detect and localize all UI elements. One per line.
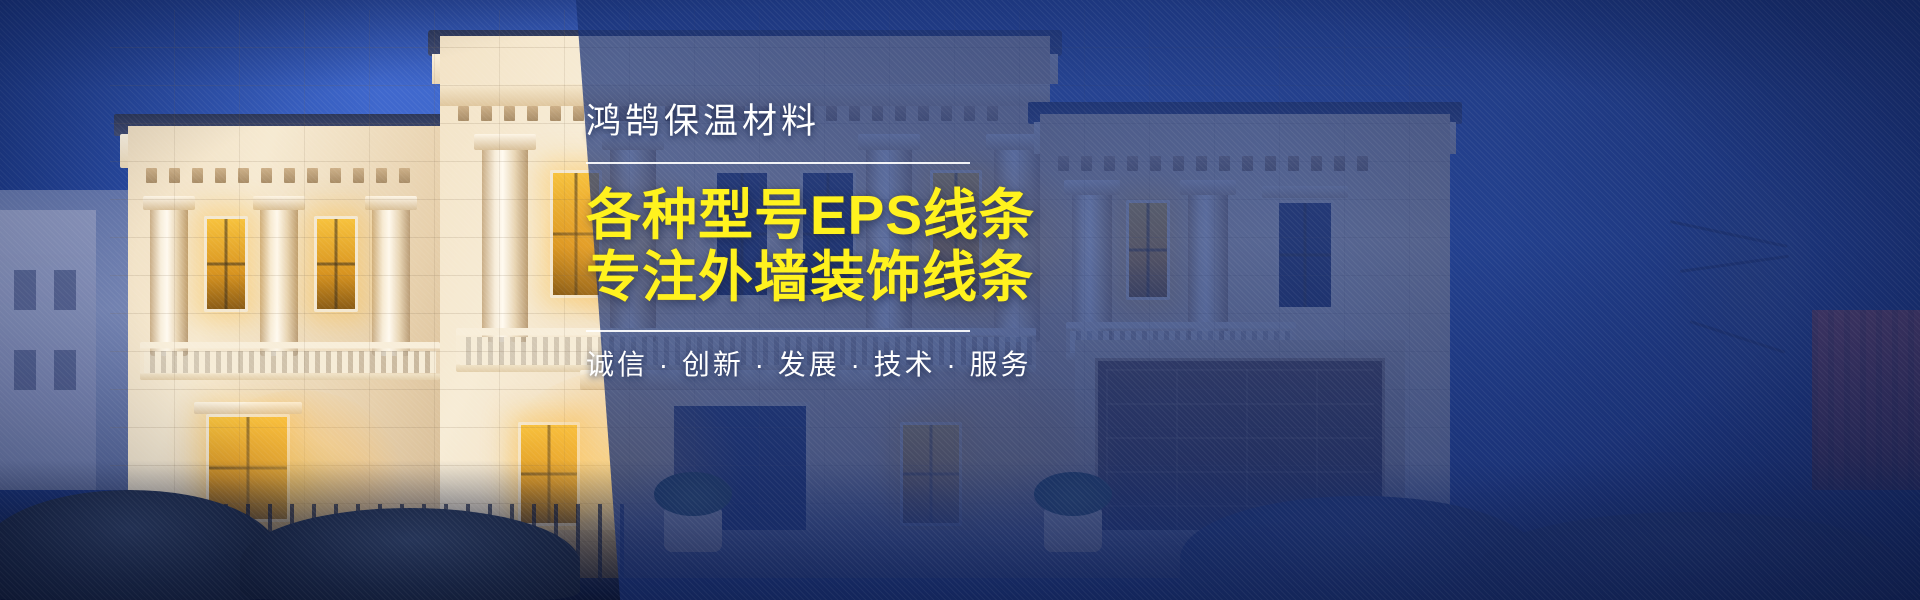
left-wing-column: [260, 206, 298, 356]
window-mullion: [317, 219, 355, 309]
distant-window: [54, 350, 76, 390]
distant-window: [14, 270, 36, 310]
tagline: 诚信 · 创新 · 发展 · 技术 · 服务: [586, 350, 1106, 381]
centre-column: [482, 146, 528, 342]
distant-building-secondary: [0, 210, 96, 490]
banner-copy: 鸿鹄保温材料 各种型号EPS线条 专注外墙装饰线条 诚信 · 创新 · 发展 ·…: [586, 104, 1106, 381]
brand-name: 鸿鹄保温材料: [586, 104, 1106, 139]
right-wing-column-capital: [1180, 180, 1236, 195]
left-wing-column: [372, 206, 410, 356]
left-wing-dentils: [146, 168, 410, 183]
left-wing-column-capital: [143, 196, 195, 210]
left-wing-window-lit: [314, 216, 358, 312]
promotional-banner: 鸿鹄保温材料 各种型号EPS线条 专注外墙装饰线条 诚信 · 创新 · 发展 ·…: [0, 0, 1920, 600]
distant-window: [14, 350, 36, 390]
divider-bottom: [586, 330, 970, 332]
tree-silhouette: [1660, 180, 1810, 430]
distant-window: [54, 270, 76, 310]
headline: 各种型号EPS线条 专注外墙装饰线条: [586, 184, 1106, 308]
window-mullion: [207, 219, 245, 309]
right-wing-window: [1276, 200, 1334, 310]
right-wing-window-lit: [1126, 200, 1170, 300]
right-wing-window-hood: [1262, 186, 1348, 198]
left-wing-window-hood: [194, 402, 302, 414]
right-wing-column: [1188, 192, 1228, 342]
headline-line-2: 专注外墙装饰线条: [586, 246, 1106, 308]
left-wing-column: [150, 206, 188, 356]
planter-shrub: [654, 472, 732, 516]
left-wing-column-capital: [365, 196, 417, 210]
tree-branch: [1690, 320, 1786, 354]
window-mullion: [1129, 203, 1167, 297]
planter-shrub: [1034, 472, 1112, 516]
left-wing-window-lit: [204, 216, 248, 312]
left-wing-column-capital: [253, 196, 305, 210]
headline-line-1: 各种型号EPS线条: [586, 184, 1106, 246]
left-wing-balustrade: [140, 342, 440, 380]
divider-top: [586, 162, 970, 164]
tree-branch: [1670, 220, 1788, 248]
window-mullion: [1279, 203, 1331, 307]
centre-column-capital: [474, 134, 536, 150]
tree-branch: [1680, 255, 1789, 273]
